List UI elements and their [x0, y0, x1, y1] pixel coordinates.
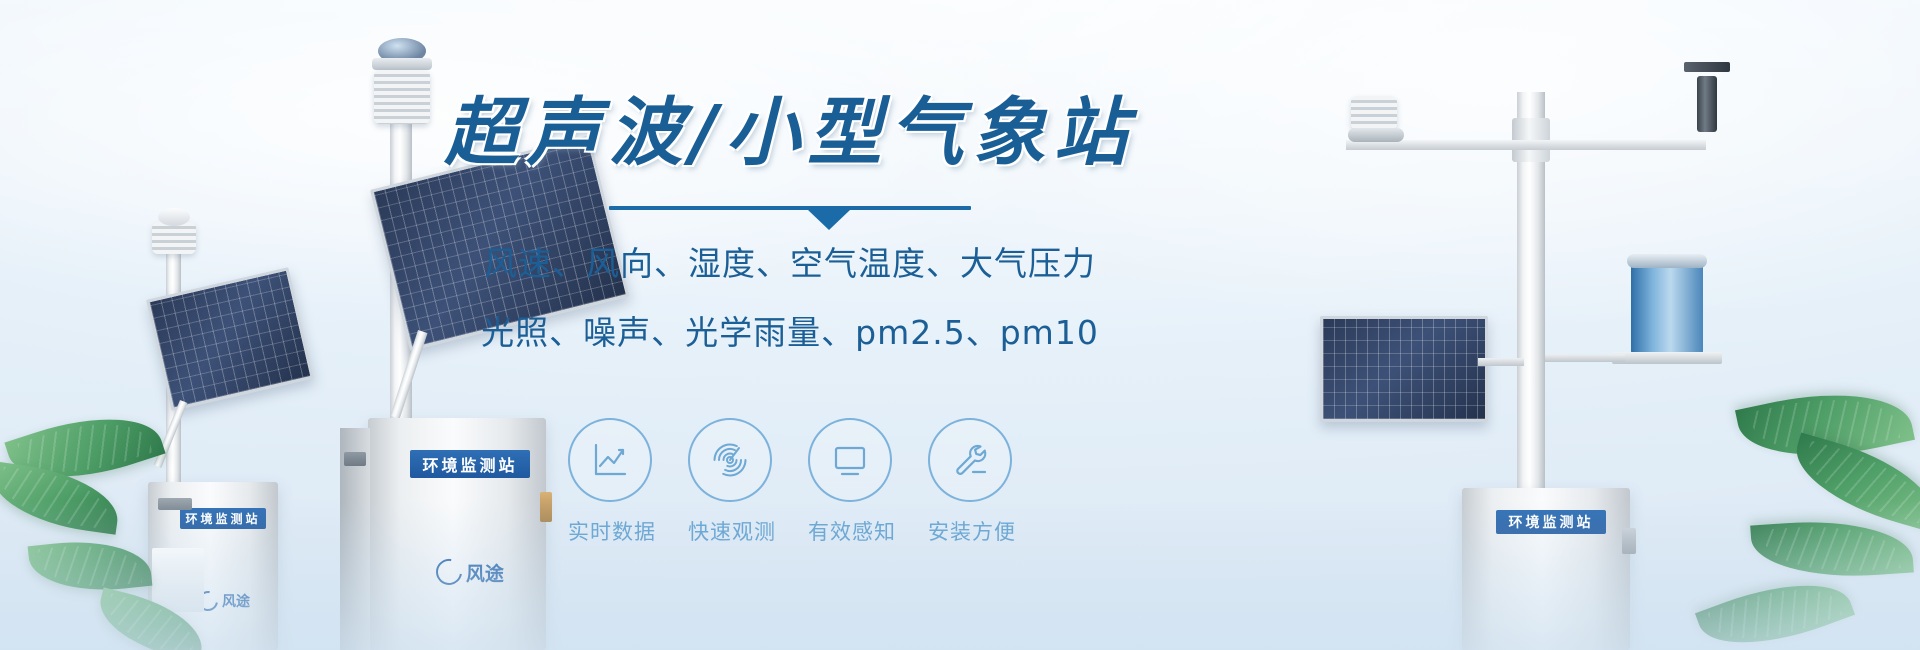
feature-list: 实时数据 快速观测 — [430, 418, 1150, 546]
foliage-left-3 — [28, 534, 153, 598]
feature-label: 快速观测 — [688, 516, 772, 546]
right-panel-arm — [1478, 358, 1524, 366]
wrench-icon — [949, 439, 991, 481]
center-cabinet-brand: 风途 — [420, 560, 520, 584]
left-cabinet-vent — [158, 498, 192, 510]
feature-label: 有效感知 — [808, 516, 892, 546]
feature-label: 实时数据 — [568, 516, 652, 546]
right-anemometer-vane — [1684, 62, 1730, 72]
foliage-right-4 — [1695, 562, 1855, 650]
monitor-icon — [829, 439, 871, 481]
rain-gauge-rim — [1627, 254, 1707, 268]
feature-icon-circle — [808, 418, 892, 502]
banner-subtitle-line-1: 风速、风向、湿度、空气温度、大气压力 — [430, 238, 1150, 289]
banner-copy: 超声波/小型气象站 风速、风向、湿度、空气温度、大气压力 光照、噪声、光学雨量、… — [430, 96, 1150, 358]
divider-triangle-icon — [808, 210, 850, 230]
brand-text: 风途 — [466, 559, 504, 586]
right-cabinet: 环境监测站 — [1462, 488, 1630, 650]
feature-icon-circle — [568, 418, 652, 502]
radar-scan-icon — [709, 439, 751, 481]
center-radiation-shield — [374, 70, 430, 124]
brand-mark-icon — [431, 554, 467, 590]
banner-subtitle-line-2: 光照、噪声、光学雨量、pm2.5、pm10 — [430, 307, 1150, 358]
foliage-right-2 — [1785, 432, 1920, 531]
brand-text: 风途 — [222, 591, 250, 611]
rain-gauge-shelf — [1612, 352, 1722, 364]
right-radiation-shield — [1351, 96, 1397, 130]
banner-headline: 超声波/小型气象站 — [430, 96, 1150, 170]
right-shield-bracket — [1348, 128, 1404, 142]
right-solar-panel — [1320, 316, 1488, 422]
line-chart-icon — [589, 439, 631, 481]
feature-easy-installation[interactable]: 安装方便 — [928, 418, 1012, 546]
feature-fast-observation[interactable]: 快速观测 — [688, 418, 772, 546]
headline-divider — [609, 206, 971, 220]
feature-label: 安装方便 — [928, 516, 1012, 546]
right-cross-arm — [1346, 140, 1706, 150]
rain-gauge-arm — [1545, 354, 1625, 362]
right-cabinet-latch — [1622, 528, 1636, 554]
center-sensor-cap — [372, 58, 432, 70]
product-banner: 环境监测站 风途 环境监测站 风途 — [0, 0, 1920, 650]
feature-realtime-data[interactable]: 实时数据 — [568, 418, 652, 546]
divider-bar — [609, 206, 971, 210]
left-sensor-dome — [158, 208, 190, 226]
feature-effective-sensing[interactable]: 有效感知 — [808, 418, 892, 546]
feature-icon-circle — [688, 418, 772, 502]
rain-gauge — [1631, 258, 1703, 356]
right-cabinet-plate: 环境监测站 — [1496, 510, 1606, 534]
feature-icon-circle — [928, 418, 1012, 502]
left-cabinet-plate: 环境监测站 — [180, 508, 266, 529]
left-cabinet-door — [152, 548, 204, 612]
center-cabinet-vent — [344, 452, 366, 466]
foliage-right-3 — [1750, 514, 1914, 583]
right-anemometer — [1697, 76, 1717, 132]
left-radiation-shield — [152, 222, 196, 254]
